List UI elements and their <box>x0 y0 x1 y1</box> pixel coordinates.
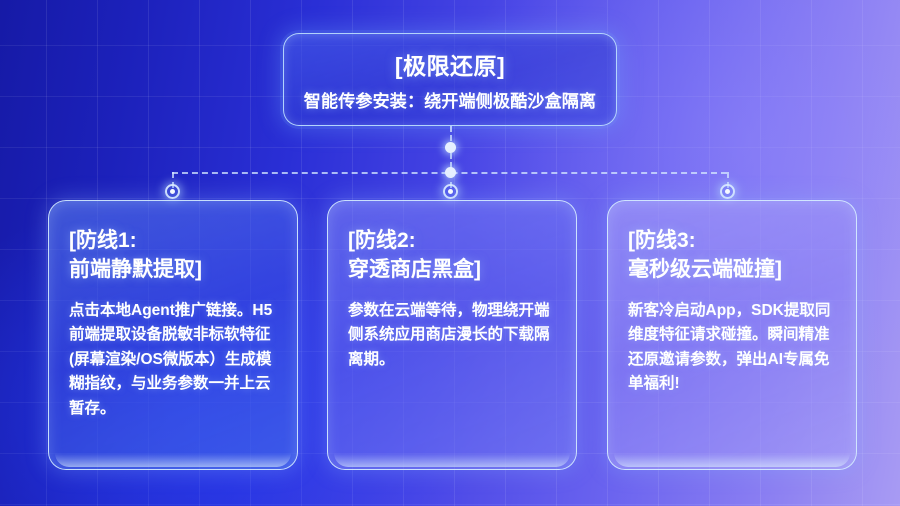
connector-node-card-3 <box>720 184 735 199</box>
card-1-heading: [防线1: 前端静默提取] <box>69 227 277 285</box>
connector-node-card-1 <box>165 184 180 199</box>
defense-card-2[interactable]: [防线2: 穿透商店黑盒] 参数在云端等待，物理绕开端侧系统应用商店漫长的下载隔… <box>327 200 577 470</box>
connector-vertical-right <box>727 172 729 188</box>
title-main: [极限还原] <box>395 47 505 81</box>
connector-vertical-center-bottom <box>450 172 452 188</box>
connector-node-card-2 <box>443 184 458 199</box>
card-2-heading: [防线2: 穿透商店黑盒] <box>348 227 556 285</box>
card-3-body: 新客冷启动App，SDK提取同维度特征请求碰撞。瞬间精准还原邀请参数，弹出AI专… <box>628 299 836 397</box>
connector-dot-top <box>445 142 456 153</box>
slide-canvas: [极限还原] 智能传参安装：绕开端侧极酷沙盒隔离 [防线1: 前端静默提取] 点… <box>0 0 900 506</box>
defense-card-1[interactable]: [防线1: 前端静默提取] 点击本地Agent推广链接。H5前端提取设备脱敏非标… <box>48 200 298 470</box>
connector-dot-hub <box>445 167 456 178</box>
title-subtitle: 智能传参安装：绕开端侧极酷沙盒隔离 <box>304 87 596 112</box>
connector-vertical-center-top <box>450 126 452 168</box>
card-3-heading: [防线3: 毫秒级云端碰撞] <box>628 227 836 285</box>
connector-horizontal-spine <box>172 172 727 174</box>
card-1-body: 点击本地Agent推广链接。H5前端提取设备脱敏非标软特征(屏幕渲染/OS微版本… <box>69 299 277 421</box>
defense-card-3[interactable]: [防线3: 毫秒级云端碰撞] 新客冷启动App，SDK提取同维度特征请求碰撞。瞬… <box>607 200 857 470</box>
connector-vertical-left <box>172 172 174 188</box>
title-box: [极限还原] 智能传参安装：绕开端侧极酷沙盒隔离 <box>283 33 617 126</box>
card-2-body: 参数在云端等待，物理绕开端侧系统应用商店漫长的下载隔离期。 <box>348 299 556 372</box>
